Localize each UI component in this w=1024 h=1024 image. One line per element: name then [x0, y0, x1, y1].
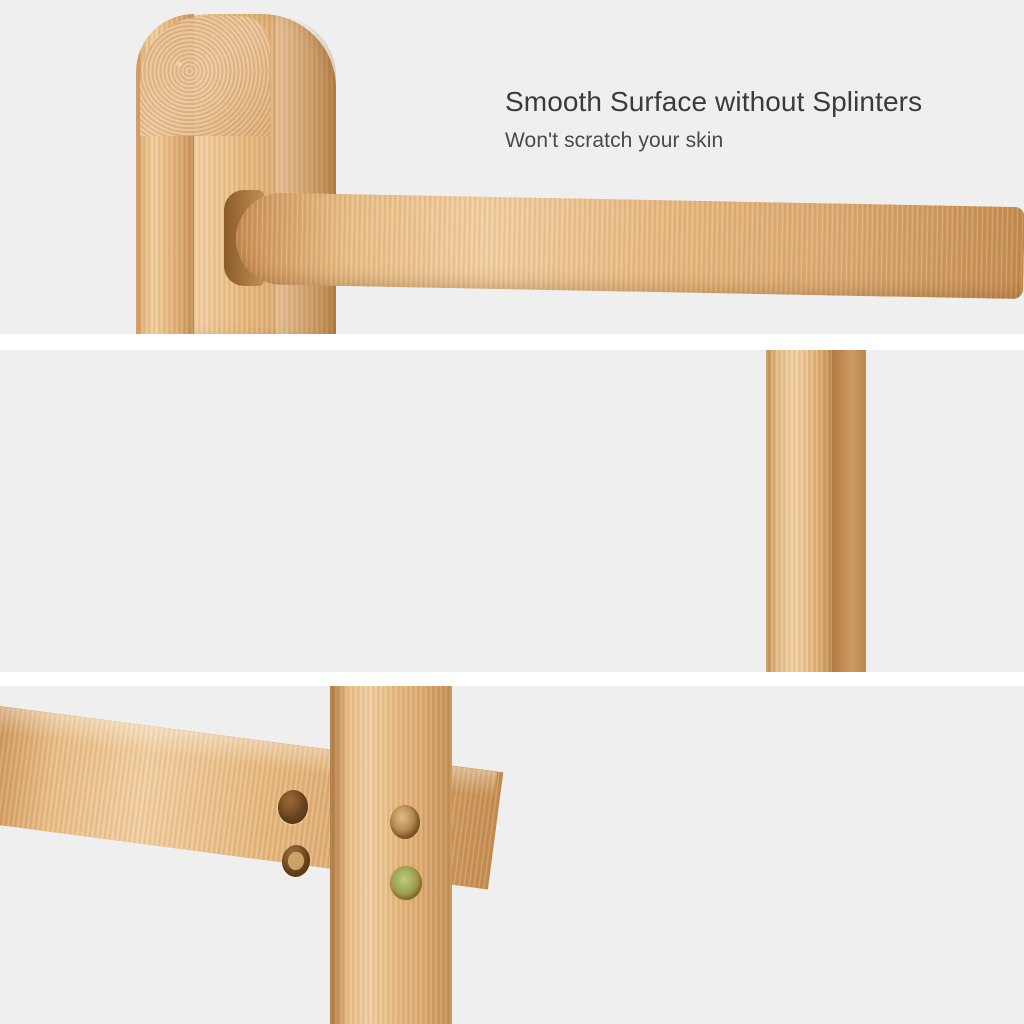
panel-1-headline: Smooth Surface without Splinters — [505, 86, 922, 118]
panel-divider-1 — [0, 334, 1024, 350]
feature-panel-embedded-screws: Embedded Screws Add tability and longevi… — [0, 686, 1024, 1024]
bamboo-post-end-grain-cap — [140, 16, 270, 136]
bamboo-post-edge-shadow — [330, 686, 348, 1024]
panel-1-text-block: Smooth Surface without Splinters Won't s… — [505, 86, 922, 153]
panel-1-subline: Won't scratch your skin — [505, 128, 922, 153]
bamboo-dowel-rod — [235, 192, 1024, 299]
feature-panel-rounded-edges: Rounded Edges Protect you clothes from b… — [0, 350, 1024, 672]
infographic-sheet: Smooth Surface without Splinters Won't s… — [0, 0, 1024, 1024]
embedded-screw-upper — [390, 805, 420, 839]
bamboo-center-post-side — [832, 350, 866, 672]
embedded-screw-lower — [390, 866, 422, 900]
feature-panel-smooth-surface: Smooth Surface without Splinters Won't s… — [0, 0, 1024, 334]
bamboo-branch-arm-tall — [572, 353, 672, 656]
panel-divider-2 — [0, 672, 1024, 686]
bamboo-vertical-post — [330, 686, 452, 1024]
bamboo-center-post — [766, 350, 832, 672]
bamboo-post-highlight — [276, 16, 336, 334]
